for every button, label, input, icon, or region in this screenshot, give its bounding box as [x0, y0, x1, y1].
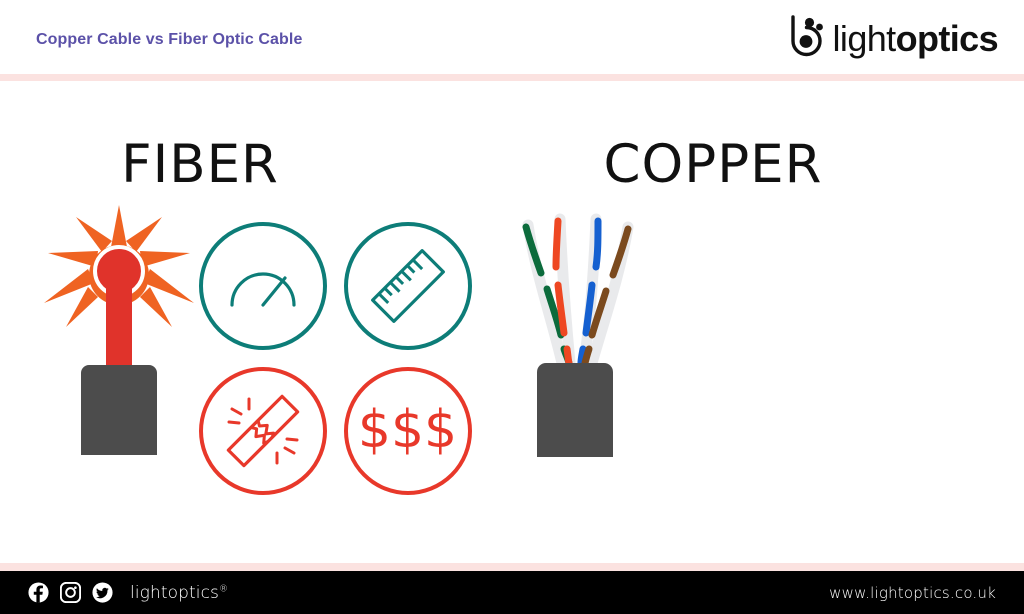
copper-column: COPPER: [500, 81, 994, 563]
page-header: Copper Cable vs Fiber Optic Cable lighto…: [0, 0, 1024, 74]
speedometer-icon-circle: [199, 222, 327, 350]
ruler-icon-circle-teal: [344, 222, 472, 350]
instagram-icon[interactable]: [60, 582, 81, 603]
triple-dollar-icon-circle: $$$: [344, 367, 472, 495]
footer-divider: [0, 563, 1024, 571]
logo-wordmark: lightoptics: [833, 21, 998, 57]
fiber-icon-cell-speedometer[interactable]: [190, 213, 335, 358]
fiber-icon-cell-cost[interactable]: $$$: [335, 358, 480, 503]
copper-twisted-pair-cable-illustration: [500, 205, 650, 467]
twitter-icon[interactable]: [92, 582, 113, 603]
fiber-icon-grid: $$$: [190, 213, 480, 503]
fiber-column: FIBER: [30, 81, 490, 563]
fiber-heading: FIBER: [0, 138, 430, 191]
fiber-optic-cable-illustration: [44, 205, 194, 465]
comparison-stage: FIBER: [0, 81, 1024, 563]
footer-brand-text: lightoptics: [130, 583, 219, 603]
brand-logo[interactable]: lightoptics: [786, 12, 998, 62]
speedometer-icon: [224, 247, 302, 325]
triple-dollar-icon: $$$: [358, 404, 457, 456]
fragile-cable-icon-circle: [199, 367, 327, 495]
copper-heading: COPPER: [466, 138, 960, 191]
infographic-page: Copper Cable vs Fiber Optic Cable lighto…: [0, 0, 1024, 614]
footer-brand: lightoptics®: [130, 583, 228, 603]
header-divider: [0, 74, 1024, 81]
page-footer: lightoptics® www.lightoptics.co.uk: [0, 571, 1024, 614]
page-title: Copper Cable vs Fiber Optic Cable: [36, 31, 302, 49]
facebook-icon[interactable]: [28, 582, 49, 603]
logo-word-optics: optics: [896, 18, 998, 59]
fiber-icon-cell-ruler[interactable]: [335, 213, 480, 358]
footer-social-group: lightoptics®: [28, 571, 228, 614]
footer-registered-mark: ®: [219, 584, 228, 594]
fiber-icon-cell-fragile[interactable]: [190, 358, 335, 503]
lightoptics-logo-mark: [786, 13, 832, 61]
footer-website-url[interactable]: www.lightoptics.co.uk: [829, 571, 996, 614]
ruler-icon: [365, 243, 451, 329]
fragile-cable-icon: [219, 387, 307, 475]
logo-word-light: light: [833, 18, 896, 59]
